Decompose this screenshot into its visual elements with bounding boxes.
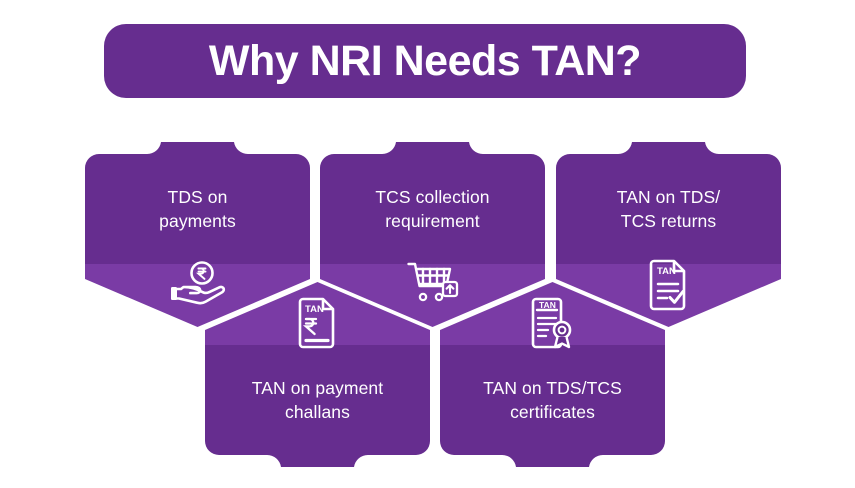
infographic-canvas: Why NRI Needs TAN? TDS on payments <box>0 0 855 488</box>
card-tan-on-tds-tcs-certificates[interactable]: TAN on TDS/TCS certificates TAN <box>440 282 665 477</box>
title-banner: Why NRI Needs TAN? <box>104 24 746 98</box>
card-tan-on-payment-challans[interactable]: TAN on payment challans TAN <box>205 282 430 477</box>
page-title: Why NRI Needs TAN? <box>209 40 641 83</box>
